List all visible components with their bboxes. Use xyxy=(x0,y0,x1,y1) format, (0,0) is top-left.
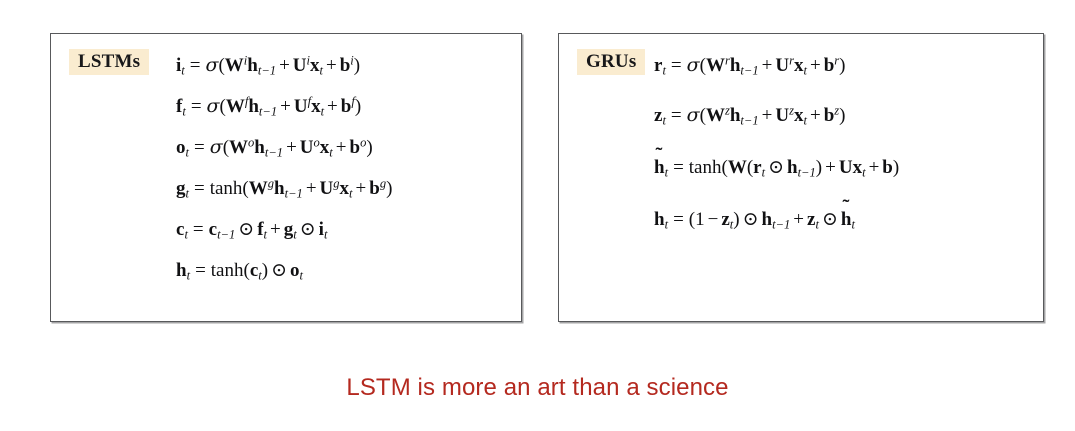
equation-output-gate: ot=σ(Woht−1+Uoxt+bo) xyxy=(176,138,373,157)
slide-caption: LSTM is more an art than a science xyxy=(0,374,1075,402)
equation-gru-hidden-state: ht=(1−zt)⊙ht−1+zt⊙ht xyxy=(654,210,855,229)
equation-hidden-state: ht=tanh(ct)⊙ot xyxy=(176,261,303,280)
equation-update-gate: zt=σ(Wzht−1+Uzxt+bz) xyxy=(654,106,845,125)
lstm-equation-list: it=σ(Wiht−1+Uixt+bi) ft=σ(Wfht−1+Ufxt+bf… xyxy=(51,34,521,321)
gru-equation-list: rt=σ(Wrht−1+Urxt+br) zt=σ(Wzht−1+Uzxt+bz… xyxy=(559,34,1043,321)
equation-candidate-hidden-state: ht=tanh(W(rt⊙ht−1)+Uxt+b) xyxy=(654,158,899,177)
equation-reset-gate: rt=σ(Wrht−1+Urxt+br) xyxy=(654,56,845,75)
equation-cell-candidate: gt=tanh(Wght−1+Ugxt+bg) xyxy=(176,179,392,198)
gru-equations-panel: GRUs rt=σ(Wrht−1+Urxt+br) zt=σ(Wzht−1+Uz… xyxy=(558,33,1044,322)
equation-cell-state: ct=ct−1⊙ft+gt⊙it xyxy=(176,220,327,239)
lstm-equations-panel: LSTMs it=σ(Wiht−1+Uixt+bi) ft=σ(Wfht−1+U… xyxy=(50,33,522,322)
equation-input-gate: it=σ(Wiht−1+Uixt+bi) xyxy=(176,56,360,75)
equation-forget-gate: ft=σ(Wfht−1+Ufxt+bf) xyxy=(176,97,361,116)
